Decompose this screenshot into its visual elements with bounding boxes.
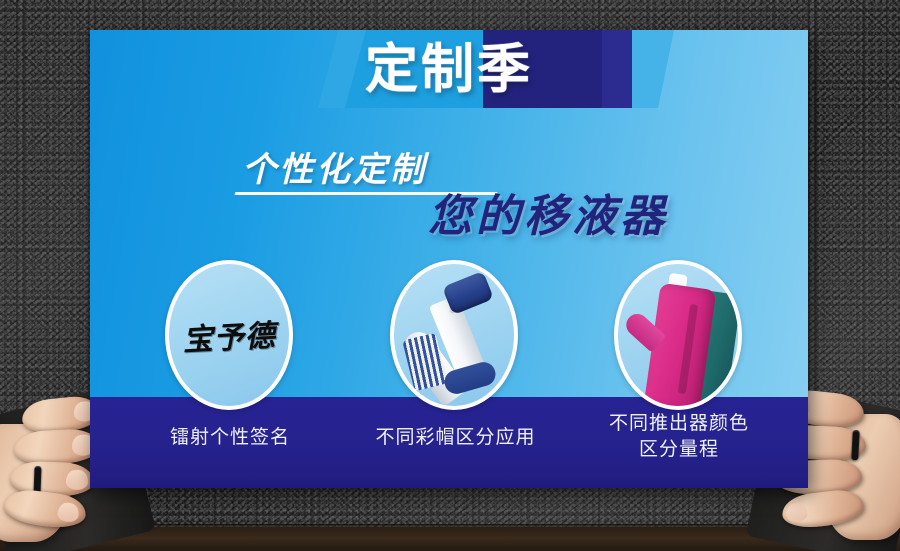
feature-circle-signature: 宝予德 <box>165 260 293 410</box>
caption-colored-caps: 不同彩帽区分应用 <box>348 425 563 451</box>
title-banner: 定制季 <box>90 30 808 108</box>
left-little-nail <box>57 502 80 523</box>
caption-ejector-colors-line1: 不同推出器颜色 <box>570 411 788 437</box>
poster-title: 定制季 <box>90 30 808 108</box>
caption-ejector-colors: 不同推出器颜色 区分量程 <box>570 411 788 463</box>
pipette-grip-ribs <box>402 333 448 392</box>
caption-laser-signature: 镭射个性签名 <box>135 425 325 451</box>
feature-circles-row: 宝予德 <box>90 260 808 410</box>
subtitle-line-1: 个性化定制 <box>242 142 427 191</box>
brand-calligraphy-logo: 宝予德 <box>165 261 292 409</box>
feature-circle-colored-caps <box>390 260 518 410</box>
feature-captions: 镭射个性签名 不同彩帽区分应用 不同推出器颜色 区分量程 <box>90 397 808 488</box>
subtitle-block: 个性化定制 您的移液器 <box>90 126 808 256</box>
left-ring-nail <box>66 469 89 490</box>
caption-ejector-colors-line2: 区分量程 <box>570 437 788 463</box>
feature-circle-ejector-colors <box>614 260 742 410</box>
promotional-poster: 定制季 个性化定制 您的移液器 宝予德 <box>90 30 808 488</box>
photo-scene: 定制季 个性化定制 您的移液器 宝予德 <box>0 0 900 551</box>
right-little-nail <box>785 502 808 523</box>
pipette-blue-cap <box>442 271 494 315</box>
subtitle-line-2: 您的移液器 <box>428 180 668 244</box>
